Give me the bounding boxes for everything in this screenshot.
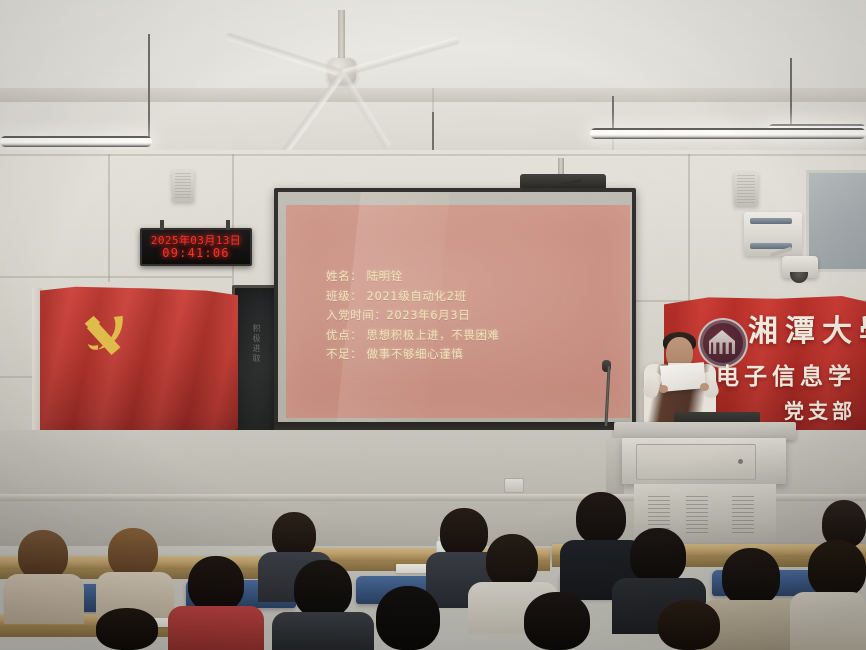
led-clock-time: 09:41:06 [162,247,229,260]
slide-line-strengths: 优点： 思想积极上进，不畏困难 [326,326,620,346]
wall-speaker-icon [172,170,194,202]
projection-screen: 姓名： 陆明铨 班级： 2021级自动化2班 入党时间：2023年6月3日 优点… [274,188,636,438]
university-seal-icon [698,318,748,368]
wall-socket-icon [504,478,524,493]
slide-line-weaknesses: 不足： 做事不够细心谨慎 [326,345,620,365]
flag-cloth [40,286,238,440]
banner-title: 湘潭大學 [748,316,866,348]
wall-speaker-icon [734,172,758,206]
projected-slide: 姓名： 陆明铨 班级： 2021级自动化2班 入党时间：2023年6月3日 优点… [286,205,630,418]
air-conditioner-icon [744,212,802,256]
slide-line-class: 班级： 2021级自动化2班 [326,287,620,307]
blackboard-chalk-text: 积极进取 [251,324,262,364]
classroom-photo-scene: 2025年03月13日 09:41:06 积极进取 [0,0,866,650]
banner-branch-line: 党支部 [784,400,856,423]
screen-surface: 姓名： 陆明铨 班级： 2021级自动化2班 入党时间：2023年6月3日 优点… [278,192,632,422]
slide-line-join-date: 入党时间：2023年6月3日 [326,306,620,326]
slide-text-block: 姓名： 陆明铨 班级： 2021级自动化2班 入党时间：2023年6月3日 优点… [326,267,620,365]
slide-line-name: 姓名： 陆明铨 [326,267,620,287]
hammer-and-sickle-icon [78,308,136,364]
led-clock-display: 2025年03月13日 09:41:06 [140,228,252,266]
cpc-party-flag [32,286,240,446]
